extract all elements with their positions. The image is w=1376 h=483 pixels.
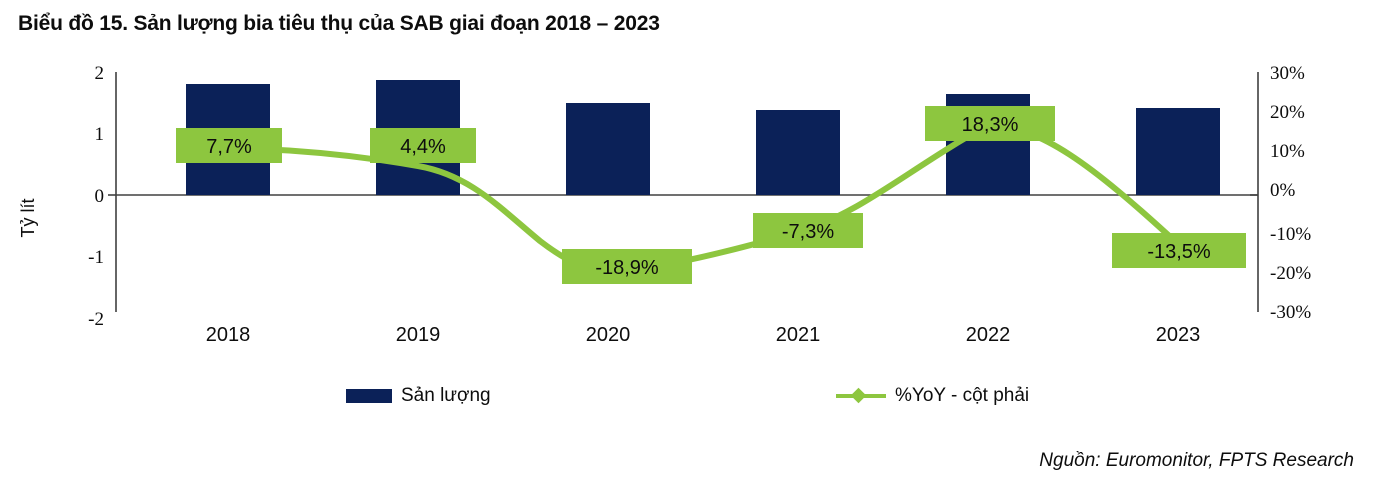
left-axis-tick-label: -2	[88, 309, 104, 330]
yoy-label-2019[interactable]: 4,4%	[370, 128, 476, 163]
chart-plot-area: 2 1 0 -1 -2 Tỷ lít 30% 20% 10% 0% -10% -…	[0, 48, 1376, 378]
yoy-label-2018-text: 7,7%	[206, 136, 252, 158]
yoy-label-2023[interactable]: -13,5%	[1112, 233, 1246, 268]
legend-label-yoy: %YoY - cột phải	[895, 385, 1029, 407]
right-axis-tick-label: 30%	[1270, 63, 1305, 84]
yoy-label-2022-text: 18,3%	[962, 114, 1019, 136]
bar-series	[186, 80, 1220, 195]
x-axis-label-2021: 2021	[776, 324, 821, 346]
source-note: Nguồn: Euromonitor, FPTS Research	[1039, 450, 1354, 472]
x-axis-category-labels: 2018 2019 2020 2021 2022 2023	[206, 324, 1201, 346]
legend-bar-swatch-icon	[346, 389, 392, 403]
right-axis-tick-label: 10%	[1270, 141, 1305, 162]
left-axis-tick-label: 1	[95, 124, 105, 145]
right-axis-tick-label: -10%	[1270, 224, 1311, 245]
right-axis-ticks: 30% 20% 10% 0% -10% -20% -30%	[1270, 63, 1311, 323]
yoy-label-2023-text: -13,5%	[1147, 241, 1211, 263]
right-axis-tick-label: -30%	[1270, 302, 1311, 323]
yoy-label-2020[interactable]: -18,9%	[562, 249, 692, 284]
bar-2020[interactable]	[566, 103, 650, 195]
chart-svg: 2 1 0 -1 -2 Tỷ lít 30% 20% 10% 0% -10% -…	[0, 48, 1376, 378]
yoy-label-2020-text: -18,9%	[595, 257, 659, 279]
yoy-label-2021-text: -7,3%	[782, 221, 834, 243]
legend-item-volume[interactable]: Sản lượng	[346, 385, 491, 407]
page-title: Biểu đồ 15. Sản lượng bia tiêu thụ của S…	[18, 12, 660, 36]
bar-2021[interactable]	[756, 110, 840, 195]
left-axis-tick-label: 0	[95, 186, 105, 207]
legend-item-yoy[interactable]: %YoY - cột phải	[836, 385, 1029, 407]
y-axis-title: Tỷ lít	[18, 199, 38, 238]
right-axis-tick-label: -20%	[1270, 263, 1311, 284]
left-axis-ticks: 2 1 0 -1 -2	[88, 63, 104, 330]
left-axis-tick-label: 2	[95, 63, 105, 84]
yoy-label-2021[interactable]: -7,3%	[753, 213, 863, 248]
x-axis-label-2019: 2019	[396, 324, 441, 346]
x-axis-label-2022: 2022	[966, 324, 1011, 346]
left-axis-tick-label: -1	[88, 247, 104, 268]
legend-label-volume: Sản lượng	[401, 385, 491, 407]
right-axis-tick-label: 0%	[1270, 180, 1296, 201]
x-axis-label-2018: 2018	[206, 324, 251, 346]
x-axis-label-2023: 2023	[1156, 324, 1201, 346]
yoy-label-2018[interactable]: 7,7%	[176, 128, 282, 163]
bar-2023[interactable]	[1136, 108, 1220, 195]
legend-line-swatch-icon	[836, 388, 886, 404]
chart-legend: Sản lượng %YoY - cột phải	[0, 385, 1376, 425]
x-axis-label-2020: 2020	[586, 324, 631, 346]
yoy-label-2019-text: 4,4%	[400, 136, 446, 158]
yoy-label-2022[interactable]: 18,3%	[925, 106, 1055, 141]
legend-diamond-marker-icon	[851, 388, 867, 404]
right-axis-tick-label: 20%	[1270, 102, 1305, 123]
